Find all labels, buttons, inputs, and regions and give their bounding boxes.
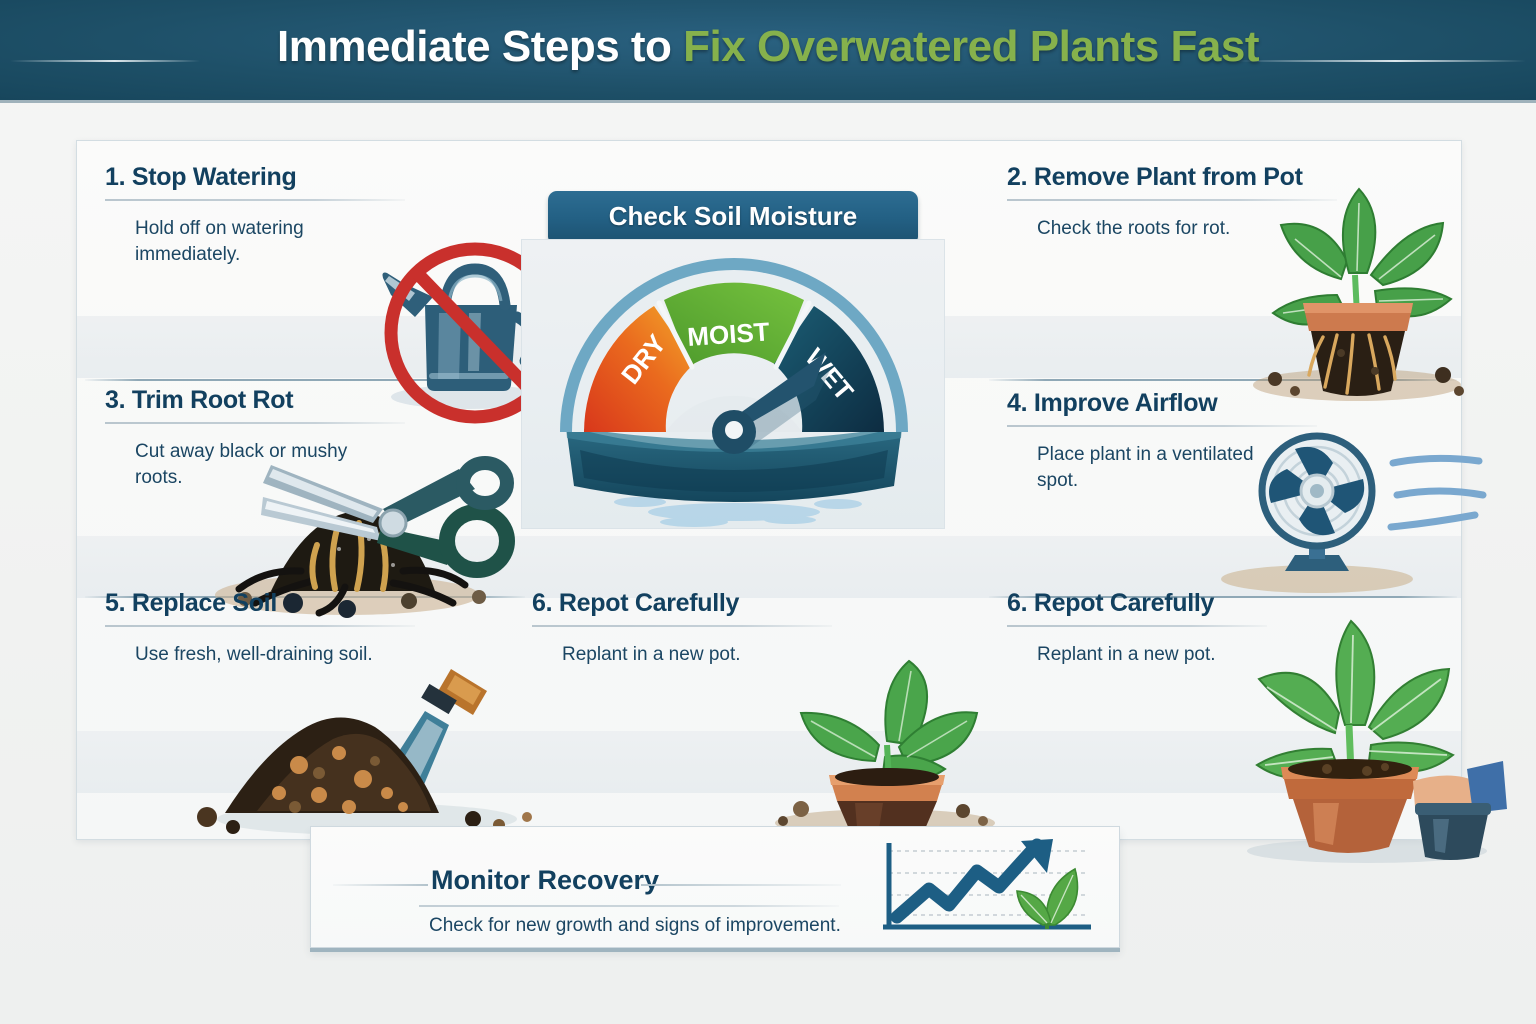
step-1-rule xyxy=(105,199,405,201)
step-5-rule xyxy=(105,625,415,627)
footer-rule-right xyxy=(641,884,841,886)
page-title-accent: Fix Overwatered Plants Fast xyxy=(683,22,1259,71)
step-card-6b[interactable]: 6. Repot Carefully Replant in a new pot. xyxy=(1007,589,1467,668)
row-divider-right-1 xyxy=(989,379,1457,381)
growth-chart-leaf-icon xyxy=(871,837,1101,937)
footer-rule-left xyxy=(333,884,428,886)
step-1-description: Hold off on watering immediately. xyxy=(135,216,365,268)
footer-rule-under xyxy=(419,905,839,907)
gauge-illustration: DRY MOIST WET xyxy=(521,239,945,529)
moisture-gauge-icon: DRY MOIST WET xyxy=(522,240,946,530)
infographic-page: Immediate Steps to Fix Overwatered Plant… xyxy=(0,0,1536,1024)
step-5-description: Use fresh, well-draining soil. xyxy=(135,642,465,668)
step-card-4[interactable]: 4. Improve Airflow Place plant in a vent… xyxy=(1007,389,1467,494)
monitor-recovery-panel[interactable]: Monitor Recovery Check for new growth an… xyxy=(310,826,1120,948)
step-6a-rule xyxy=(532,625,832,627)
steps-board: 1. Stop Watering Hold off on watering im… xyxy=(76,140,1462,840)
header-banner: Immediate Steps to Fix Overwatered Plant… xyxy=(0,0,1536,103)
step-2-title: 2. Remove Plant from Pot xyxy=(1007,163,1467,192)
step-2-rule xyxy=(1007,199,1337,201)
step-5-title: 5. Replace Soil xyxy=(105,589,545,618)
step-1-title: 1. Stop Watering xyxy=(105,163,525,192)
footer-title: Monitor Recovery xyxy=(431,865,659,896)
step-3-description: Cut away black or mushy roots. xyxy=(135,439,355,491)
step-card-2[interactable]: 2. Remove Plant from Pot Check the roots… xyxy=(1007,163,1467,242)
step-card-1[interactable]: 1. Stop Watering Hold off on watering im… xyxy=(105,163,525,268)
gauge-badge: Check Soil Moisture xyxy=(548,191,918,241)
step-6b-description: Replant in a new pot. xyxy=(1037,642,1317,668)
step-3-rule xyxy=(105,422,405,424)
step-6b-title: 6. Repot Carefully xyxy=(1007,589,1467,618)
page-title: Immediate Steps to Fix Overwatered Plant… xyxy=(0,22,1536,72)
step-4-rule xyxy=(1007,425,1317,427)
page-title-primary: Immediate Steps to xyxy=(277,22,683,71)
step-card-3[interactable]: 3. Trim Root Rot Cut away black or mushy… xyxy=(105,386,525,491)
step-4-description: Place plant in a ventilated spot. xyxy=(1037,442,1257,494)
step-6a-title: 6. Repot Carefully xyxy=(532,589,952,618)
step-card-5[interactable]: 5. Replace Soil Use fresh, well-draining… xyxy=(105,589,545,668)
step-2-description: Check the roots for rot. xyxy=(1037,216,1297,242)
row-divider-left-1 xyxy=(85,379,525,381)
step-6a-description: Replant in a new pot. xyxy=(562,642,842,668)
step-4-title: 4. Improve Airflow xyxy=(1007,389,1467,418)
gauge-label-moist: MOIST xyxy=(686,316,770,352)
step-6b-rule xyxy=(1007,625,1267,627)
footer-description: Check for new growth and signs of improv… xyxy=(429,915,841,937)
row-band-3 xyxy=(77,731,1461,793)
gauge-badge-label: Check Soil Moisture xyxy=(609,201,858,232)
step-3-title: 3. Trim Root Rot xyxy=(105,386,525,415)
soil-moisture-gauge-panel: Check Soil Moisture xyxy=(521,191,945,529)
step-card-6a[interactable]: 6. Repot Carefully Replant in a new pot. xyxy=(532,589,952,668)
